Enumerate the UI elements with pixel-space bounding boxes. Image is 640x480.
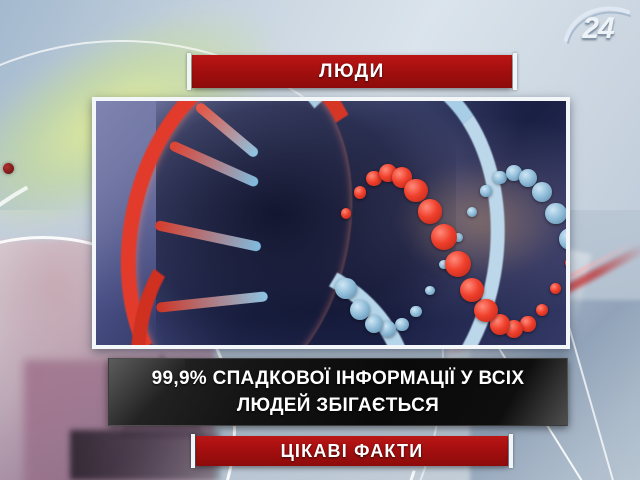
dna-bead <box>480 185 491 196</box>
dna-bead <box>335 278 356 299</box>
banner-tick-left <box>191 434 195 468</box>
banner-program: ЦІКАВІ ФАКТИ <box>196 436 508 466</box>
dna-bead <box>410 306 421 317</box>
broadcast-screen: 24 ЛЮДИ 99,9% СПАДКОВОЇ ІНФОРМАЦІЇ У ВСІ… <box>0 0 640 480</box>
dna-bead <box>545 203 566 224</box>
banner-tick-left <box>187 53 191 90</box>
banner-topic-label: ЛЮДИ <box>192 55 512 88</box>
channel-logo: 24 <box>562 4 634 50</box>
banner-topic: ЛЮДИ <box>192 55 512 88</box>
background-red-dot <box>3 163 14 174</box>
channel-logo-number: 24 <box>562 12 634 46</box>
dna-bead <box>431 224 457 250</box>
dna-bead <box>467 207 477 217</box>
banner-tick-right <box>513 53 517 90</box>
dna-bead <box>365 315 383 333</box>
banner-program-label: ЦІКАВІ ФАКТИ <box>196 436 508 466</box>
dna-bead <box>474 299 497 322</box>
dna-image-frame <box>92 97 570 349</box>
banner-tick-right <box>509 434 513 468</box>
dna-bead <box>445 251 471 277</box>
dna-bead <box>532 182 552 202</box>
dna-bead <box>418 199 443 224</box>
dna-bead <box>404 179 427 202</box>
caption-line-1: 99,9% СПАДКОВОЇ ІНФОРМАЦІЇ У ВСІХ <box>152 365 525 392</box>
dna-bead <box>565 258 570 268</box>
dna-bead <box>395 318 408 331</box>
dna-bead <box>350 300 370 320</box>
caption-box: 99,9% СПАДКОВОЇ ІНФОРМАЦІЇ У ВСІХ ЛЮДЕЙ … <box>108 358 568 426</box>
dna-bead <box>354 186 367 199</box>
caption-line-2: ЛЮДЕЙ ЗБІГАЄТЬСЯ <box>237 392 439 419</box>
dna-bead <box>493 171 506 184</box>
